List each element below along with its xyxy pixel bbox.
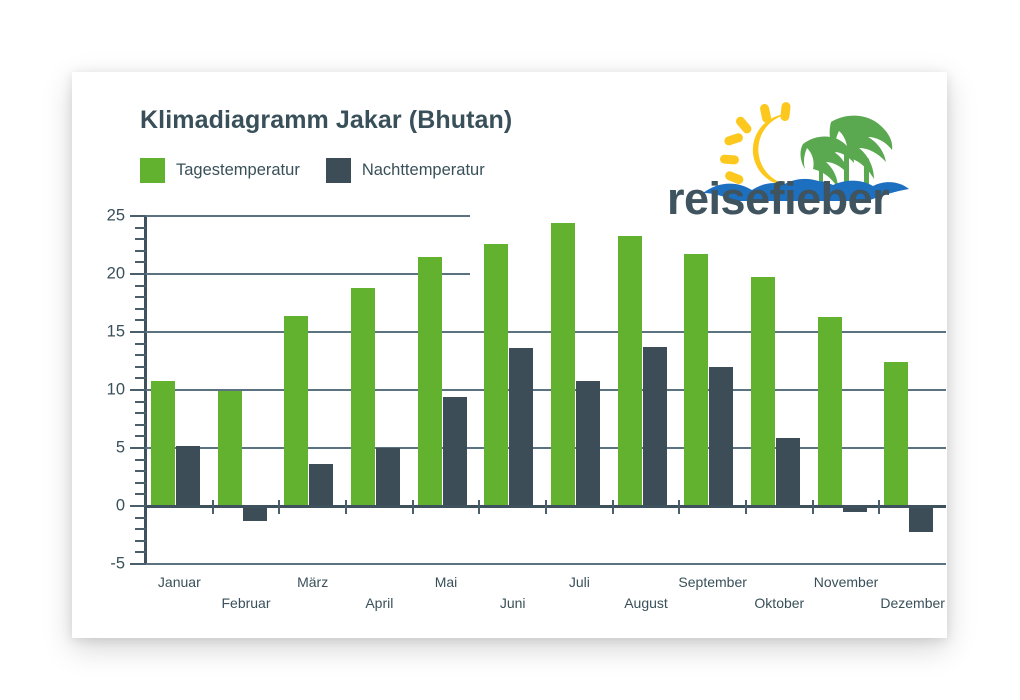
y-axis-label--5: -5 — [110, 555, 125, 574]
x-axis-label-august: August — [624, 595, 668, 611]
x-axis-label-januar: Januar — [158, 574, 201, 590]
bar-night-februar — [243, 506, 267, 521]
y-tick--1 — [135, 517, 146, 519]
y-tick-1 — [135, 493, 146, 495]
x-axis-label-juni: Juni — [500, 595, 526, 611]
x-axis-label-april: April — [365, 595, 393, 611]
y-tick-8 — [135, 412, 146, 414]
x-axis-label-märz: März — [297, 574, 328, 590]
y-tick-23 — [135, 238, 146, 240]
bar-night-april — [376, 448, 400, 506]
legend-item-day: Tagestemperatur — [140, 158, 300, 183]
x-axis-label-oktober: Oktober — [754, 595, 804, 611]
y-tick-21 — [135, 261, 146, 263]
y-tick-22 — [135, 250, 146, 252]
y-tick-0 — [130, 505, 146, 507]
y-tick-12 — [135, 366, 146, 368]
bar-day-februar — [218, 391, 242, 506]
chart-card: Klimadiagramm Jakar (Bhutan) Tagestemper… — [72, 72, 947, 638]
bar-night-juni — [509, 348, 533, 506]
y-tick-6 — [135, 435, 146, 437]
x-tick-separator — [478, 500, 480, 514]
bar-day-april — [351, 288, 375, 506]
y-tick-5 — [130, 447, 146, 449]
gridline-25 — [146, 215, 470, 217]
bar-day-dezember — [884, 362, 908, 506]
x-tick-separator — [878, 500, 880, 514]
y-tick-7 — [135, 424, 146, 426]
y-tick-19 — [135, 285, 146, 287]
screenshot-root: Klimadiagramm Jakar (Bhutan) Tagestemper… — [0, 0, 1020, 700]
legend-swatch-icon — [140, 158, 165, 183]
chart-plot-area: -50510152025JanuarFebruarMärzAprilMaiJun… — [146, 216, 946, 564]
y-axis-label-0: 0 — [116, 497, 125, 516]
y-tick-10 — [130, 389, 146, 391]
bar-day-juni — [484, 244, 508, 506]
y-tick--4 — [135, 551, 146, 553]
page-title: Klimadiagramm Jakar (Bhutan) — [140, 106, 512, 135]
y-tick-17 — [135, 308, 146, 310]
x-tick-separator — [612, 500, 614, 514]
reisefieber-logo: reisefieber — [663, 100, 925, 218]
logo-wordmark: reisefieber — [667, 173, 889, 218]
y-tick--5 — [130, 563, 146, 565]
x-axis-label-mai: Mai — [435, 574, 458, 590]
x-tick-separator — [412, 500, 414, 514]
y-tick-11 — [135, 377, 146, 379]
x-tick-separator — [345, 500, 347, 514]
x-tick-separator — [678, 500, 680, 514]
bar-day-oktober — [751, 277, 775, 506]
y-axis-label-5: 5 — [116, 439, 125, 458]
bar-night-juli — [576, 381, 600, 506]
y-tick-15 — [130, 331, 146, 333]
bar-night-mai — [443, 397, 467, 506]
legend-item-night: Nachttemperatur — [326, 158, 485, 183]
x-tick-separator — [278, 500, 280, 514]
bar-night-september — [709, 367, 733, 506]
x-tick-separator — [545, 500, 547, 514]
x-axis-label-dezember: Dezember — [880, 595, 945, 611]
x-axis-label-februar: Februar — [221, 595, 270, 611]
bar-night-januar — [176, 446, 200, 506]
y-tick-2 — [135, 482, 146, 484]
legend-label: Nachttemperatur — [362, 161, 485, 180]
bar-day-mai — [418, 257, 442, 506]
x-axis-label-september: September — [678, 574, 746, 590]
bar-day-märz — [284, 316, 308, 506]
y-tick-18 — [135, 296, 146, 298]
bar-night-oktober — [776, 438, 800, 506]
y-tick--2 — [135, 528, 146, 530]
y-axis-label-10: 10 — [107, 381, 125, 400]
bar-night-märz — [309, 464, 333, 506]
x-tick-separator — [212, 500, 214, 514]
bar-day-november — [818, 317, 842, 506]
bar-night-dezember — [909, 506, 933, 532]
y-tick--3 — [135, 540, 146, 542]
legend-swatch-icon — [326, 158, 351, 183]
y-tick-25 — [130, 215, 146, 217]
gridline--5 — [146, 563, 946, 565]
chart-legend: TagestemperaturNachttemperatur — [140, 158, 485, 183]
x-tick-separator — [745, 500, 747, 514]
y-tick-9 — [135, 401, 146, 403]
bar-day-september — [684, 254, 708, 506]
x-axis-label-november: November — [814, 574, 879, 590]
y-tick-20 — [130, 273, 146, 275]
y-tick-13 — [135, 354, 146, 356]
y-axis-label-25: 25 — [107, 207, 125, 226]
y-tick-16 — [135, 319, 146, 321]
x-axis-label-juli: Juli — [569, 574, 590, 590]
y-axis-label-20: 20 — [107, 265, 125, 284]
y-axis-label-15: 15 — [107, 323, 125, 342]
legend-label: Tagestemperatur — [176, 161, 300, 180]
y-tick-3 — [135, 470, 146, 472]
bar-day-juli — [551, 223, 575, 506]
y-tick-14 — [135, 343, 146, 345]
bar-day-august — [618, 236, 642, 506]
bar-day-januar — [151, 381, 175, 506]
y-tick-24 — [135, 227, 146, 229]
x-tick-separator — [812, 500, 814, 514]
bar-night-august — [643, 347, 667, 506]
y-tick-4 — [135, 459, 146, 461]
